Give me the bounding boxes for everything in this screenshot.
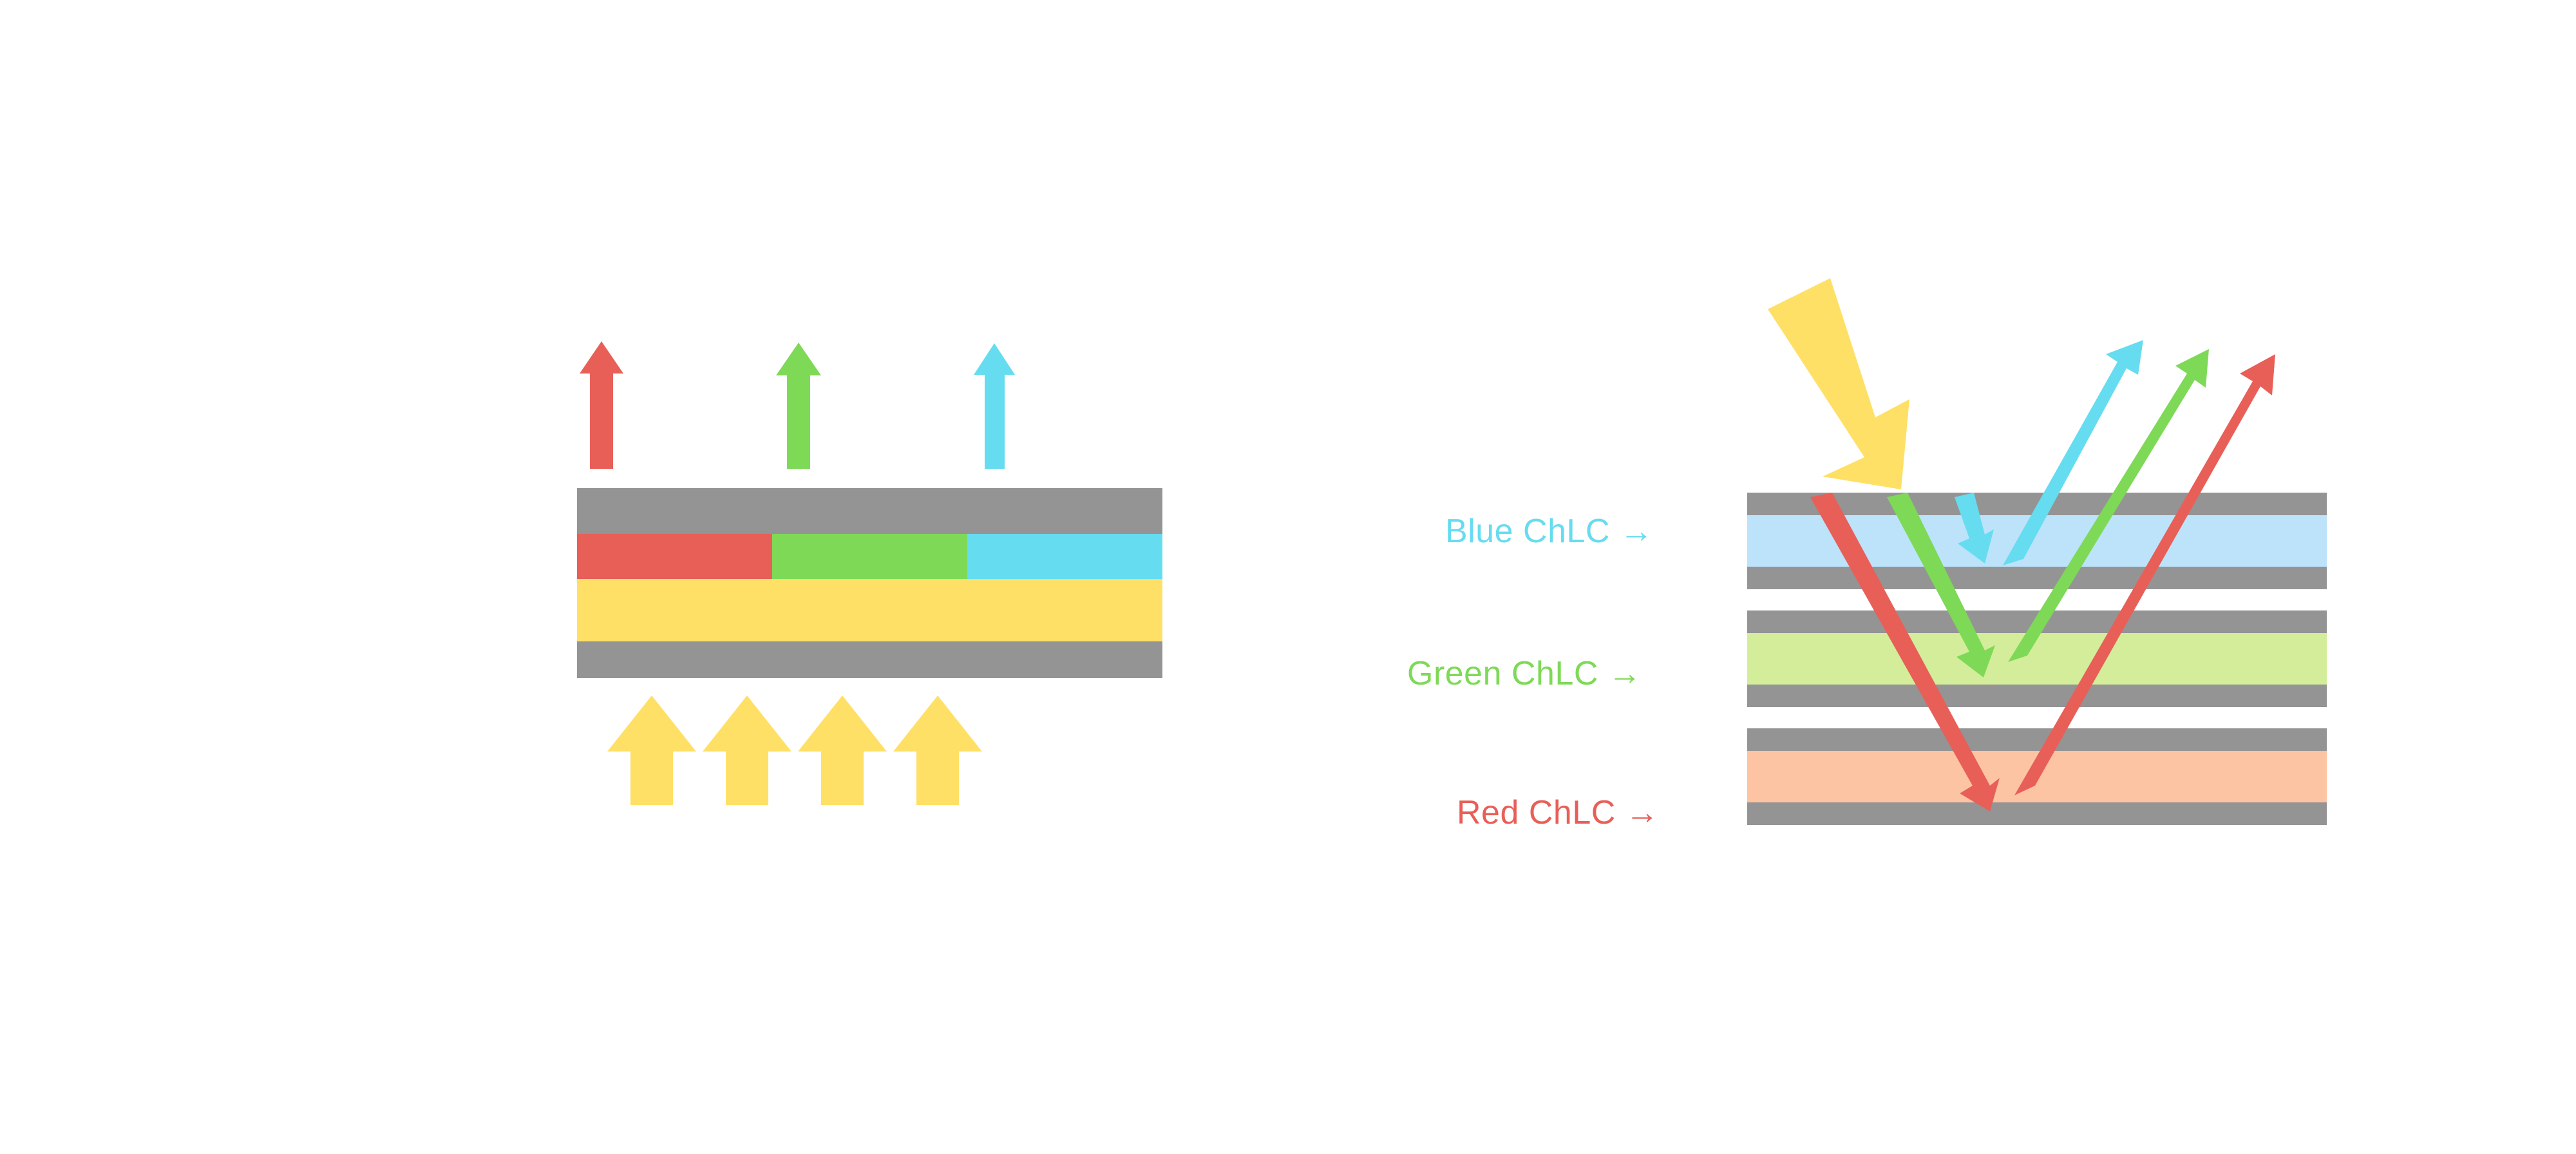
left-panel-transmissive-stack [535, 303, 1217, 792]
backlight-arrow-1 [607, 695, 696, 805]
bottom-gray-layer [577, 641, 1162, 678]
backlight-layer [577, 579, 1162, 641]
backlight-arrow-group [607, 695, 982, 805]
emitted-green-arrow [776, 343, 821, 469]
green-chlc-label-text: Green ChLC [1407, 655, 1598, 692]
emitted-cyan-arrow [974, 343, 1015, 469]
red-chlc-label: Red ChLC → [1457, 793, 1659, 832]
green-chlc-label: Green ChLC → [1407, 654, 1642, 693]
right-panel-reflective-stack [1732, 270, 2351, 863]
blue-chlc-label: Blue ChLC → [1445, 512, 1653, 551]
red-chlc-label-text: Red ChLC [1457, 794, 1616, 831]
blue-chlc-label-text: Blue ChLC [1445, 513, 1610, 550]
right-panel-svg [1732, 270, 2351, 863]
backlight-arrow-3 [798, 695, 887, 805]
backlight-arrow-2 [703, 695, 791, 805]
green-bottom-electrode [1747, 685, 2327, 707]
red-filter-segment [577, 534, 772, 579]
incident-white-light-arrow [1768, 278, 1909, 489]
red-top-electrode [1747, 728, 2327, 751]
green-chlc-label-arrow-icon: → [1608, 655, 1642, 692]
left-panel-svg [535, 303, 1217, 792]
left-stack-layers [577, 488, 1162, 678]
red-chlc-label-arrow-icon: → [1625, 794, 1660, 831]
gap-2 [1747, 707, 2327, 728]
blue-chlc-label-arrow-icon: → [1620, 513, 1654, 550]
blue-bottom-electrode [1747, 567, 2327, 589]
cyan-filter-segment [967, 534, 1162, 579]
gap-1 [1747, 589, 2327, 610]
emitted-red-arrow [580, 341, 623, 469]
green-chlc-layer [1747, 633, 2327, 685]
diagram-canvas: Blue ChLC → Green ChLC → Red ChLC → [0, 0, 2576, 1154]
top-gray-layer [577, 488, 1162, 534]
backlight-arrow-4 [893, 695, 982, 805]
green-filter-segment [772, 534, 967, 579]
red-bottom-electrode [1747, 802, 2327, 825]
